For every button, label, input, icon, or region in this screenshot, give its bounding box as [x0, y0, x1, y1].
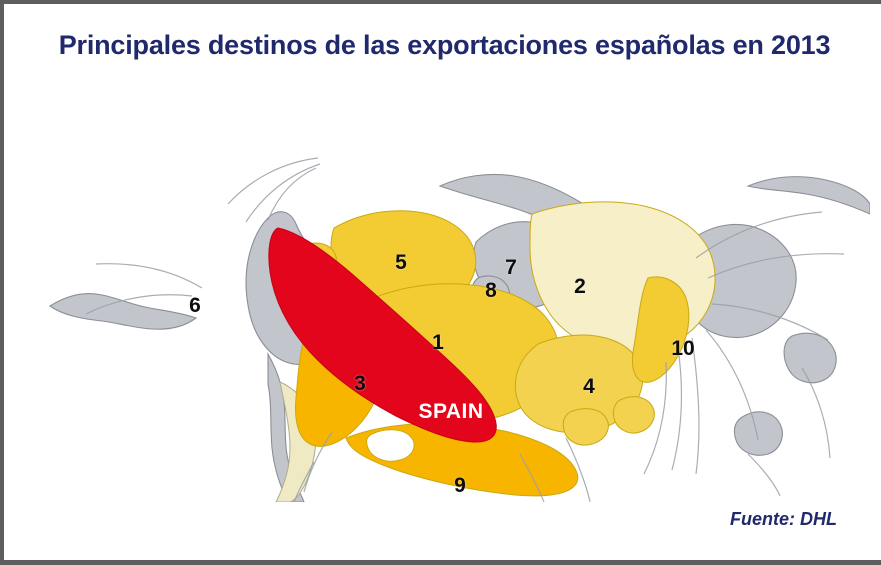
- landmass-oceania-gray: [784, 333, 836, 383]
- map-label-rank-5: 5: [395, 251, 407, 275]
- landmass-australia-gray: [734, 412, 782, 455]
- country-filler-island-east: [563, 409, 608, 445]
- map-label-rank-4: 4: [583, 375, 595, 399]
- map-label-rank-3: 3: [354, 372, 366, 396]
- landmass-northwest-smear: [50, 294, 196, 330]
- map-label-rank-7: 7: [505, 256, 517, 280]
- landmass-northeast-smear: [748, 177, 870, 214]
- world-cartogram: 1 2 3 4 5 6 7 8 9 10 SPAIN: [32, 82, 870, 502]
- country-filler-island-southeast: [613, 397, 654, 433]
- map-label-rank-9: 9: [454, 474, 466, 498]
- source-note: Fuente: DHL: [730, 509, 837, 530]
- map-label-rank-6: 6: [189, 294, 201, 318]
- page-title: Principales destinos de las exportacione…: [4, 30, 881, 61]
- map-label-rank-10: 10: [671, 337, 694, 361]
- map-label-rank-8: 8: [485, 279, 497, 303]
- map-label-spain: SPAIN: [418, 400, 483, 424]
- map-label-rank-2: 2: [574, 275, 586, 299]
- cartogram-svg: [32, 82, 870, 502]
- figure-frame: Principales destinos de las exportacione…: [0, 0, 881, 565]
- map-label-rank-1: 1: [432, 331, 444, 355]
